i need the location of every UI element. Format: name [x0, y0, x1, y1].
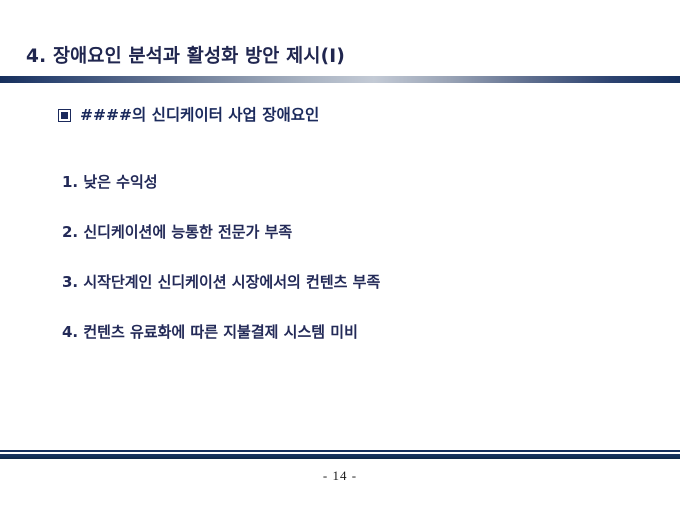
- numbered-list: 1. 낮은 수익성 2. 신디케이션에 능통한 전문가 부족 3. 시작단계인 …: [62, 172, 642, 372]
- slide-canvas: 4. 장애요인 분석과 활성화 방안 제시(I) ####의 신디케이터 사업 …: [0, 0, 680, 510]
- page-number: - 14 -: [0, 468, 680, 484]
- filled-square-bullet-icon: [58, 109, 71, 122]
- footer-divider-thick: [0, 454, 680, 459]
- bullet-heading-row: ####의 신디케이터 사업 장애요인: [58, 106, 319, 124]
- bullet-heading-label: ####의 신디케이터 사업 장애요인: [80, 106, 319, 124]
- list-item: 1. 낮은 수익성: [62, 172, 642, 222]
- list-item: 4. 컨텐츠 유료화에 따른 지불결제 시스템 미비: [62, 322, 642, 372]
- list-item: 2. 신디케이션에 능통한 전문가 부족: [62, 222, 642, 272]
- list-item: 3. 시작단계인 신디케이션 시장에서의 컨텐츠 부족: [62, 272, 642, 322]
- page-title: 4. 장애요인 분석과 활성화 방안 제시(I): [26, 44, 345, 70]
- footer-divider-thin: [0, 450, 680, 452]
- title-divider-rule: [0, 76, 680, 83]
- slide-title-block: 4. 장애요인 분석과 활성화 방안 제시(I): [0, 44, 680, 84]
